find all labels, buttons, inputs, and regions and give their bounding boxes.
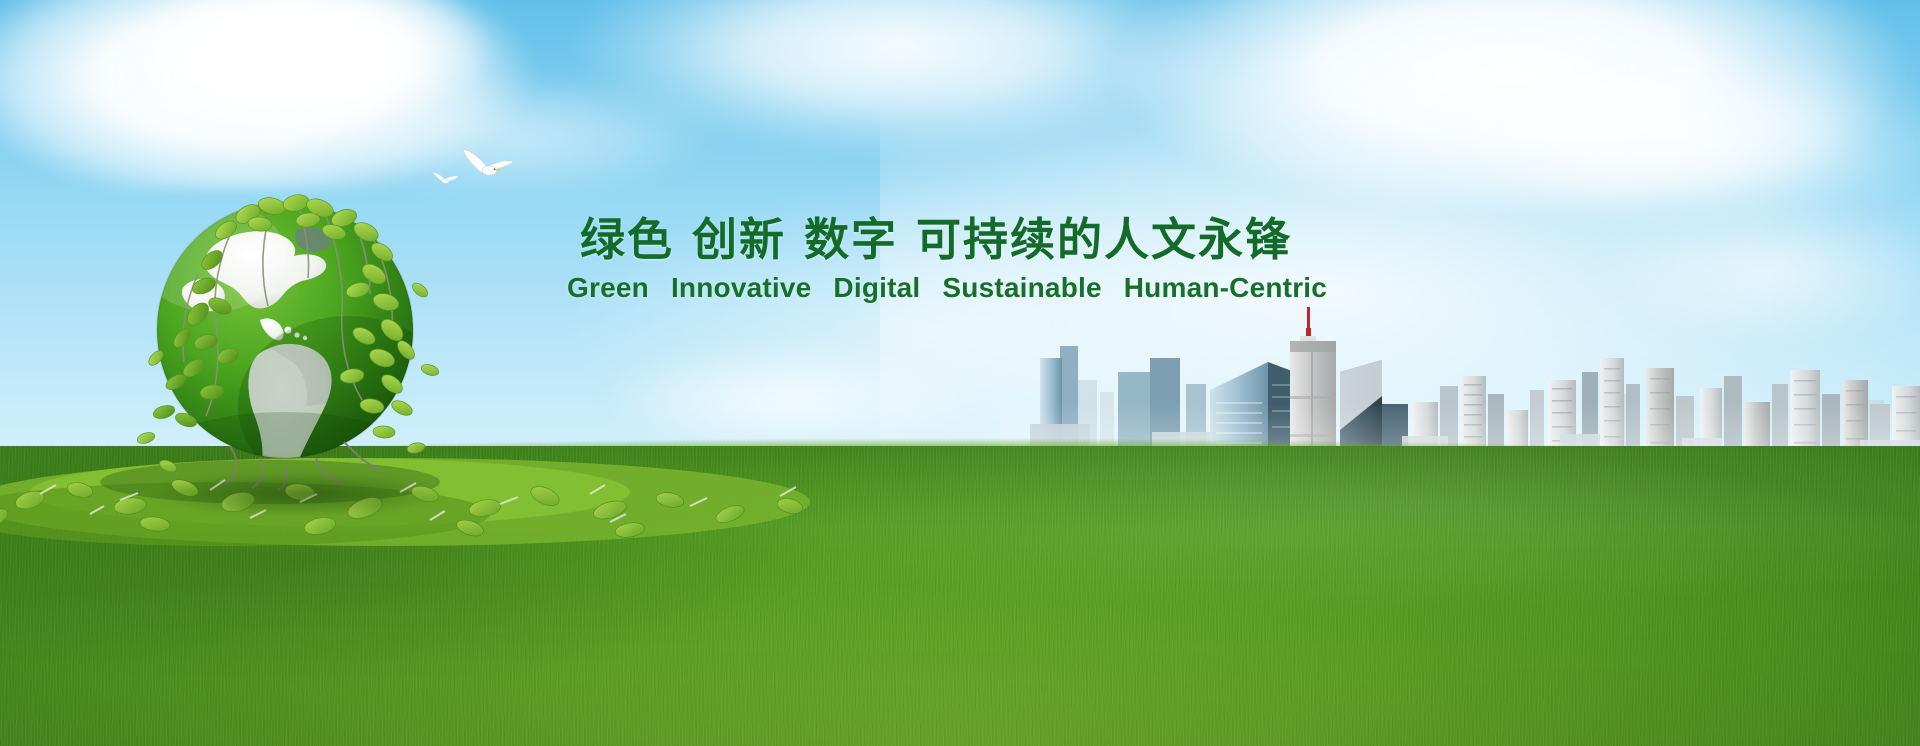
- globe-graphic: [120, 170, 460, 500]
- leafy-globe: [120, 170, 460, 500]
- globe-ground-shadow: [108, 466, 488, 522]
- headline-cn-word-3: 数字: [804, 214, 898, 265]
- eco-banner: 绿色创新数字可持续的人文永锋 GreenInnovativeDigitalSus…: [0, 0, 1920, 746]
- headline-chinese: 绿色创新数字可持续的人文永锋: [556, 215, 1316, 265]
- headline-cn-word-4: 可持续的人文永锋: [916, 214, 1292, 265]
- headline-cn-word-2: 创新: [692, 214, 786, 265]
- headline-cn-word-1: 绿色: [580, 214, 674, 265]
- antenna-mast: [1307, 307, 1310, 331]
- seagull-large-icon: [455, 143, 517, 183]
